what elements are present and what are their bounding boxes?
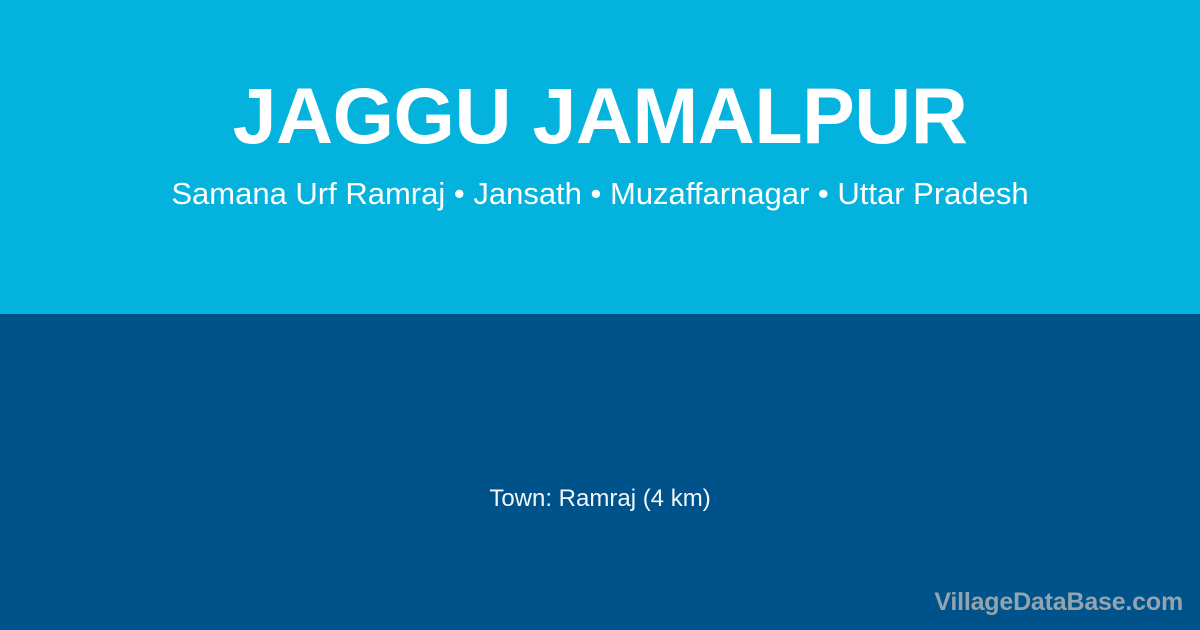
nearest-town-label: Town: Ramraj (4 km) [0, 485, 1200, 514]
breadcrumb: Samana Urf Ramraj • Jansath • Muzaffarna… [171, 177, 1028, 211]
header-banner-content: JAGGU JAMALPUR Samana Urf Ramraj • Jansa… [0, 0, 1200, 314]
page-title: JAGGU JAMALPUR [233, 76, 968, 155]
details-section: Town: Ramraj (4 km) VillageDataBase.com [0, 314, 1200, 630]
village-info-card: JAGGU JAMALPUR Samana Urf Ramraj • Jansa… [0, 0, 1200, 630]
site-watermark: VillageDataBase.com [934, 589, 1183, 617]
header-banner: JAGGU JAMALPUR Samana Urf Ramraj • Jansa… [0, 0, 1200, 314]
